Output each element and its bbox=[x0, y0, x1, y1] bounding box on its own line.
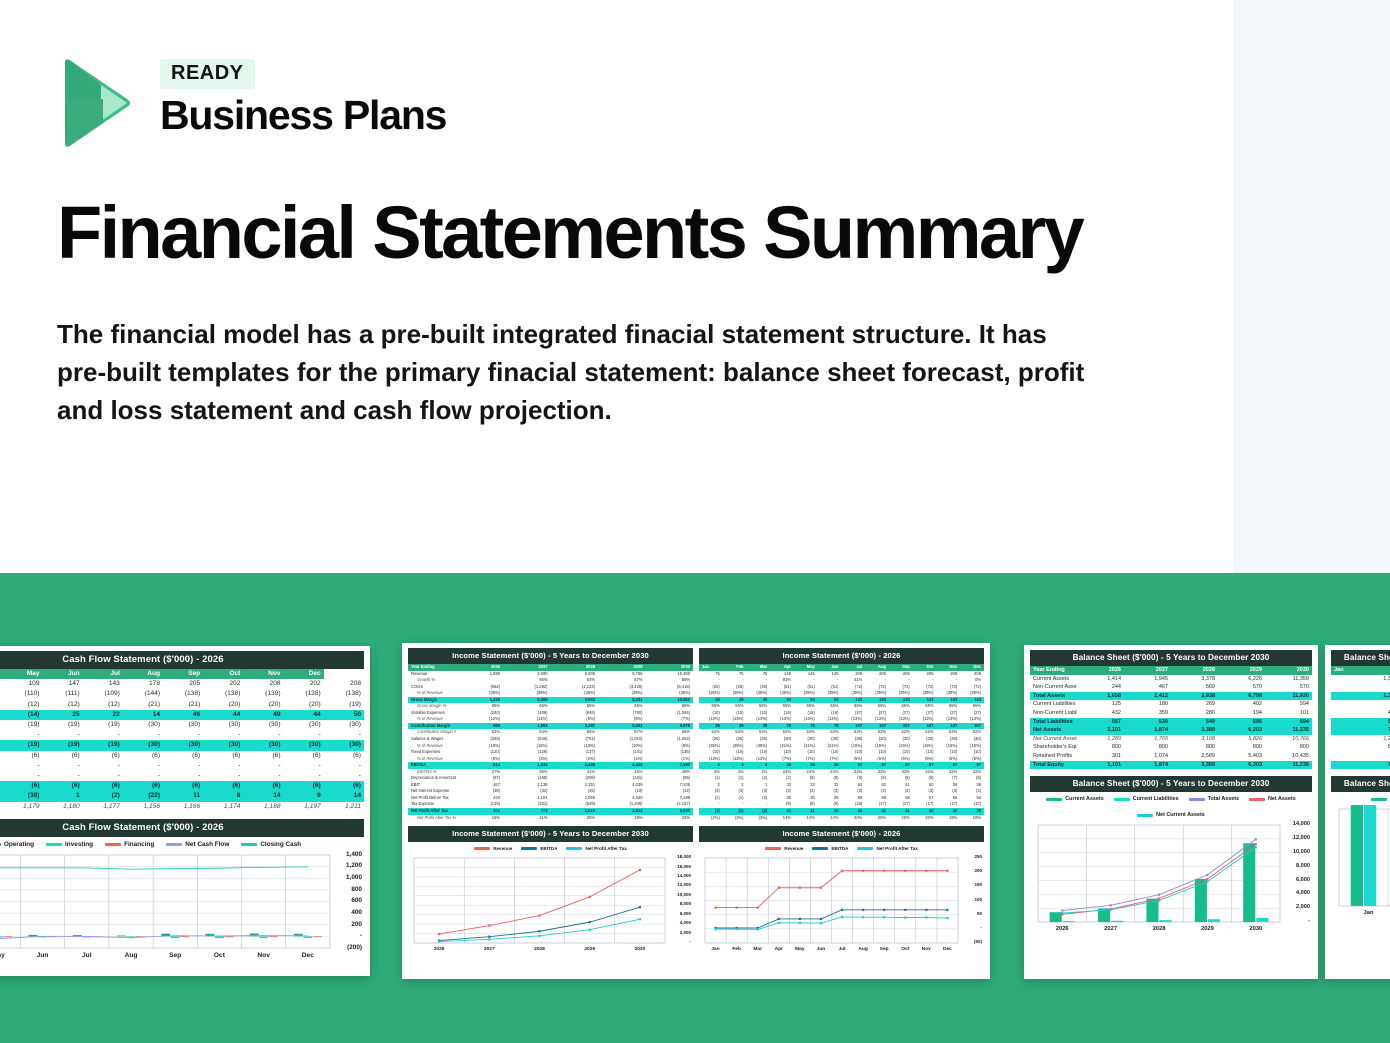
table-cell: (6) bbox=[284, 751, 324, 761]
x-tick: Nov bbox=[242, 952, 286, 959]
table-cell: 1,101 bbox=[1077, 761, 1124, 770]
y-tick: - bbox=[360, 932, 362, 939]
ready-badge: READY bbox=[160, 59, 255, 89]
balance-2026-table-block: Balance Sheet ($'000) - 2026 JanFeb 1,34… bbox=[1331, 650, 1390, 769]
y-tick: - bbox=[690, 939, 692, 944]
row-label: Total Liabilities bbox=[1030, 718, 1077, 727]
table-cell: 20% bbox=[842, 815, 866, 822]
y-tick: 1,200 bbox=[346, 862, 362, 869]
table-cell: (19) bbox=[83, 740, 123, 750]
table-cell: 1,289 bbox=[1077, 735, 1124, 744]
table-cell: 495 bbox=[1331, 709, 1390, 718]
y-tick: 250 bbox=[974, 854, 982, 859]
cash-flow-plot[interactable]: 1,4001,2001,000800600400200-(200) bbox=[0, 851, 364, 951]
table-cell: 1,414 bbox=[1077, 675, 1124, 684]
y-tick: 600 bbox=[351, 897, 362, 904]
table-cell: (109) bbox=[83, 689, 123, 699]
table-cell: (30) bbox=[243, 720, 283, 730]
table-row[interactable]: (23)(38)1(2)(22)11814914 bbox=[0, 791, 364, 801]
table-cell: 570 bbox=[1265, 683, 1312, 692]
y-tick: 1,000 bbox=[346, 874, 362, 881]
table-cell: 20% bbox=[889, 815, 913, 822]
table-cell: (21) bbox=[163, 700, 203, 710]
y-tick: 6,000 bbox=[1296, 877, 1310, 883]
y-tick: 2,000 bbox=[680, 930, 691, 935]
table-row[interactable]: 1(14)2522144644494450 bbox=[0, 710, 364, 720]
income-2026-x-axis: JanFebMarAprMayJunJulAugSepOctNovDec bbox=[699, 946, 984, 952]
y-tick: (200) bbox=[347, 944, 362, 951]
table-cell: (110) bbox=[2, 689, 42, 699]
table-body: 79109147143178205202208202208(75)(110)(1… bbox=[0, 679, 364, 812]
table-cell: (12) bbox=[43, 700, 83, 710]
table-row[interactable]: (3)(12)(12)(12)(21)(21)(20)(20)(20)(19) bbox=[0, 700, 364, 710]
x-tick: 2028 bbox=[514, 947, 564, 952]
legend-label: Financing bbox=[124, 841, 154, 848]
table-cell: 799 bbox=[1331, 761, 1390, 770]
legend-label: Current Assets bbox=[1065, 796, 1103, 802]
x-tick: Sep bbox=[874, 947, 895, 952]
balance-5y-table[interactable]: Year Ending20262027202820292030 Current … bbox=[1030, 666, 1312, 769]
y-tick: 100 bbox=[974, 897, 982, 902]
table-cell: 1,188 bbox=[243, 802, 283, 812]
table-cell: (22) bbox=[123, 791, 163, 801]
income-5y-legend: RevenueEBITDANet Profit After Tax bbox=[408, 842, 693, 854]
y-tick: 14,000 bbox=[1293, 821, 1310, 827]
income-5y-chart-title: Income Statement ($'000) - 5 Years to De… bbox=[408, 826, 693, 842]
row-label: Current Liabilities bbox=[1030, 700, 1077, 709]
table-row[interactable]: Current Liabilities125180269402594 bbox=[1030, 700, 1312, 709]
income-5y-plot[interactable]: 18,00016,00014,00012,00010,0008,0006,000… bbox=[408, 854, 693, 946]
x-tick: 2026 bbox=[1038, 926, 1086, 932]
table-cell: 125 bbox=[1077, 700, 1124, 709]
row-label: Total Equity bbox=[1030, 761, 1077, 770]
income-2026-table[interactable]: JanFebMarAprMayJunJulAugSepOctNovDec 757… bbox=[699, 664, 984, 821]
y-tick: (50) bbox=[974, 939, 982, 944]
cash-flow-chart-title: Cash Flow Statement ($'000) - 2026 bbox=[0, 819, 364, 837]
table-cell: 1,074 bbox=[1124, 752, 1171, 761]
table-cell: 11,359 bbox=[1265, 675, 1312, 684]
legend-item: Investing bbox=[46, 841, 93, 848]
row-label: Total Assets bbox=[1030, 692, 1077, 701]
legend-label: EBITDA bbox=[831, 846, 848, 851]
table-cell: - bbox=[43, 771, 83, 781]
table-row[interactable]: 1,2751,251 bbox=[1331, 735, 1390, 744]
balance-sheet-2026-screenshot-card[interactable]: Balance Sheet ($'000) - 2026 JanFeb 1,34… bbox=[1325, 645, 1390, 979]
legend-item: Current Assets bbox=[1371, 796, 1390, 802]
table-cell: 1,177 bbox=[83, 802, 123, 812]
balance-2026-table[interactable]: JanFeb 1,3411,32318361,3591,359657249548… bbox=[1331, 666, 1390, 769]
x-tick: Jun bbox=[810, 947, 831, 952]
table-cell: 799 bbox=[1331, 726, 1390, 735]
column-header[interactable]: Dec bbox=[284, 669, 324, 679]
income-5y-column: Income Statement ($'000) - 5 Years to De… bbox=[408, 648, 693, 821]
column-header[interactable]: Aug bbox=[123, 669, 163, 679]
table-cell: 10,766 bbox=[1265, 735, 1312, 744]
y-tick: 12,000 bbox=[677, 882, 691, 887]
table-cell: - bbox=[123, 771, 163, 781]
legend-swatch bbox=[46, 843, 62, 846]
table-cell: (19) bbox=[2, 740, 42, 750]
table-row[interactable]: (19)(19)(19)(19)(30)(30)(30)(30)(30)(30) bbox=[0, 720, 364, 730]
table-cell: (6) bbox=[83, 751, 123, 761]
legend-item: Net Cash Flow bbox=[166, 841, 229, 848]
table-row[interactable]: (6)(6)(6)(6)(6)(6)(6)(6)(6)(6) bbox=[0, 751, 364, 761]
table-cell: 1,658 bbox=[1077, 692, 1124, 701]
table-row[interactable]: Net Assets1,1011,8743,3896,20311,235 bbox=[1030, 726, 1312, 735]
cash-flow-screenshot-card[interactable]: Cash Flow Statement ($'000) - 2026 AprMa… bbox=[0, 646, 370, 976]
legend-item: EBITDA bbox=[812, 846, 848, 851]
table-cell: 202 bbox=[203, 679, 243, 689]
table-cell: 101 bbox=[1265, 709, 1312, 718]
income-2026-legend: RevenueEBITDANet Profit After Tax bbox=[699, 842, 984, 854]
table-cell: 25 bbox=[43, 710, 83, 720]
table-cell: 1,275 bbox=[1331, 735, 1390, 744]
table-cell: (144) bbox=[123, 689, 163, 699]
cash-flow-table-title: Cash Flow Statement ($'000) - 2026 bbox=[0, 651, 364, 669]
table-cell: 147 bbox=[43, 679, 83, 689]
table-cell: 14 bbox=[123, 710, 163, 720]
legend-item: Current Liabilities bbox=[1114, 796, 1179, 802]
table-cell: 2,589 bbox=[1171, 752, 1218, 761]
column-header[interactable]: Year Ending bbox=[1030, 666, 1077, 675]
legend-item: Financing bbox=[105, 841, 154, 848]
legend-swatch bbox=[105, 843, 121, 846]
table-row[interactable]: 799798 bbox=[1331, 761, 1390, 770]
table-row[interactable]: 800800 bbox=[1331, 743, 1390, 752]
table-row[interactable]: 6572 bbox=[1331, 700, 1390, 709]
table-cell: (138) bbox=[203, 689, 243, 699]
column-header[interactable]: 2029 bbox=[1218, 666, 1265, 675]
table-row[interactable]: 1,3591,359 bbox=[1331, 692, 1390, 701]
legend-swatch bbox=[1137, 814, 1153, 817]
table-cell: 1,174 bbox=[203, 802, 243, 812]
y-tick: 400 bbox=[351, 909, 362, 916]
table-cell: 1,874 bbox=[1124, 726, 1171, 735]
table-row[interactable]: ---------- bbox=[0, 771, 364, 781]
table-cell: - bbox=[83, 730, 123, 740]
legend-item: Revenue bbox=[765, 846, 803, 851]
table-cell: 202 bbox=[284, 679, 324, 689]
table-cell: (2%) bbox=[723, 815, 747, 822]
x-tick: 2027 bbox=[1086, 926, 1134, 932]
table-cell: (6) bbox=[163, 751, 203, 761]
income-5y-table-title: Income Statement ($'000) - 5 Years to De… bbox=[408, 648, 693, 664]
row-label: Net Interest Expense bbox=[408, 788, 456, 795]
table-row[interactable]: ---------- bbox=[0, 761, 364, 771]
table-cell: 109 bbox=[2, 679, 42, 689]
cash-flow-table[interactable]: AprMayJunJulAugSepOctNovDec 791091471431… bbox=[0, 669, 364, 812]
legend-swatch bbox=[0, 843, 1, 846]
table-cell: 14% bbox=[794, 815, 818, 822]
legend-label: Closing Cash bbox=[260, 841, 301, 848]
table-row[interactable]: Net Profit After Tax %16%21%25%29%33% bbox=[408, 815, 693, 822]
balance-sheet-screenshot-card[interactable]: Balance Sheet ($'000) - 5 Years to Decem… bbox=[1024, 645, 1318, 979]
x-tick: Apr bbox=[768, 947, 789, 952]
table-cell: 194 bbox=[1218, 709, 1265, 718]
table-cell: 19% bbox=[937, 815, 961, 822]
legend-swatch bbox=[474, 847, 490, 850]
table-row[interactable]: 1,3411,323 bbox=[1331, 675, 1390, 684]
table-cell: (6) bbox=[83, 781, 123, 791]
column-header[interactable]: 2028 bbox=[1171, 666, 1218, 675]
x-tick: Sep bbox=[153, 952, 197, 959]
x-tick: Jul bbox=[65, 952, 109, 959]
table-cell: (20) bbox=[284, 700, 324, 710]
column-header[interactable]: Jan bbox=[1331, 666, 1390, 675]
legend-label: Net Cash Flow bbox=[185, 841, 229, 848]
table-cell: (19) bbox=[43, 740, 83, 750]
brand-name: Business Plans bbox=[160, 94, 446, 137]
balance-2026-table-title: Balance Sheet ($'000) - 2026 bbox=[1331, 650, 1390, 666]
table-cell: - bbox=[123, 761, 163, 771]
table-cell: (30) bbox=[243, 740, 283, 750]
hero-section: READY Business Plans Financial Statement… bbox=[0, 0, 1390, 573]
table-cell: 11,930 bbox=[1265, 692, 1312, 701]
table-cell: (30) bbox=[203, 740, 243, 750]
legend-swatch bbox=[566, 847, 582, 850]
table-cell: (12) bbox=[83, 700, 123, 710]
cash-flow-chart-legend: OperatingInvestingFinancingNet Cash Flow… bbox=[0, 837, 364, 851]
table-cell: 25% bbox=[551, 815, 599, 822]
table-cell: (30) bbox=[284, 720, 324, 730]
table-row[interactable]: Retained Profits3011,0742,5895,40310,435 bbox=[1030, 752, 1312, 761]
table-cell: 2,412 bbox=[1124, 692, 1171, 701]
table-cell: 50 bbox=[324, 710, 364, 720]
table-cell: (6) bbox=[243, 781, 283, 791]
balance-5y-plot[interactable]: 14,00012,00010,0008,0006,0004,0002,000- bbox=[1030, 821, 1312, 925]
y-tick: 4,000 bbox=[1296, 890, 1310, 896]
table-cell: 432 bbox=[1077, 709, 1124, 718]
legend-swatch bbox=[241, 843, 257, 846]
y-tick: 16,000 bbox=[677, 864, 691, 869]
x-tick: Mar bbox=[747, 947, 768, 952]
table-row[interactable]: 79109147143178205202208202208 bbox=[0, 679, 364, 689]
table-cell: - bbox=[284, 730, 324, 740]
row-label: Net Profit After Tax % bbox=[408, 815, 456, 822]
row-label: Net Assets bbox=[1030, 726, 1077, 735]
legend-item: Net Current Assets bbox=[1137, 812, 1205, 818]
x-tick: 2029 bbox=[565, 947, 615, 952]
x-tick: Jan bbox=[705, 947, 726, 952]
legend-label: Investing bbox=[65, 841, 93, 848]
table-row[interactable]: (2%)(2%)(3%)14%14%14%20%20%20%20%19%19% bbox=[699, 815, 984, 822]
table-cell: 16% bbox=[456, 815, 504, 822]
y-tick: 18,000 bbox=[677, 854, 691, 859]
legend-swatch bbox=[1249, 798, 1265, 801]
table-row[interactable]: 495489 bbox=[1331, 709, 1390, 718]
table-cell: 6,798 bbox=[1218, 692, 1265, 701]
x-tick: 2026 bbox=[414, 947, 464, 952]
table-row[interactable]: Non-Current Liabilities432359280194101 bbox=[1030, 709, 1312, 718]
table-cell: 1,156 bbox=[123, 802, 163, 812]
table-cell: 3,389 bbox=[1171, 726, 1218, 735]
legend-label: Current Liabilities bbox=[1133, 796, 1179, 802]
column-header[interactable]: 2030 bbox=[1265, 666, 1312, 675]
row-label: Depreciation & Amortization bbox=[408, 775, 456, 782]
income-2026-plot[interactable]: 25020015010050-(50) bbox=[699, 854, 984, 946]
table-cell: 570 bbox=[1218, 683, 1265, 692]
table-cell: (6) bbox=[43, 751, 83, 761]
table-cell: - bbox=[163, 761, 203, 771]
table-cell: (6) bbox=[324, 751, 364, 761]
table-row[interactable]: (75)(110)(111)(109)(144)(138)(138)(139)(… bbox=[0, 689, 364, 699]
table-cell: - bbox=[243, 730, 283, 740]
table-cell: (14) bbox=[2, 710, 42, 720]
x-tick: Jan bbox=[1337, 910, 1390, 916]
x-tick: Aug bbox=[109, 952, 153, 959]
table-cell: 18 bbox=[1331, 683, 1390, 692]
table-cell: - bbox=[123, 730, 163, 740]
table-cell: 143 bbox=[83, 679, 123, 689]
y-tick: 200 bbox=[351, 921, 362, 928]
right-tint-panel bbox=[1233, 0, 1390, 573]
y-tick: 4,000 bbox=[680, 920, 691, 925]
legend-item: Operating bbox=[0, 841, 34, 848]
column-header[interactable]: Jun bbox=[43, 669, 83, 679]
table-cell: 1,765 bbox=[1124, 735, 1171, 744]
x-tick: May bbox=[0, 952, 20, 959]
table-row[interactable]: 799798 bbox=[1331, 726, 1390, 735]
table-cell: 6,203 bbox=[1218, 761, 1265, 770]
balance-5y-legend: Current AssetsCurrent LiabilitiesTotal A… bbox=[1030, 792, 1312, 821]
legend-item: Net Profit After Tax bbox=[566, 846, 626, 851]
table-cell: (19) bbox=[43, 720, 83, 730]
column-header[interactable]: Jul bbox=[83, 669, 123, 679]
table-cell: 800 bbox=[1265, 743, 1312, 752]
table-cell: 694 bbox=[1265, 718, 1312, 727]
table-cell: 3,108 bbox=[1171, 735, 1218, 744]
table-cell: - bbox=[324, 730, 364, 740]
column-header[interactable]: Oct bbox=[203, 669, 243, 679]
x-tick: Dec bbox=[937, 947, 958, 952]
column-header[interactable]: Sep bbox=[163, 669, 203, 679]
table-cell: 10,435 bbox=[1265, 752, 1312, 761]
table-cell: 20% bbox=[865, 815, 889, 822]
y-tick: 200 bbox=[974, 868, 982, 873]
table-cell: (6) bbox=[284, 781, 324, 791]
table-row[interactable]: Total Assets1,6582,4123,9386,79811,930 bbox=[1030, 692, 1312, 701]
legend-label: Net Profit After Tax bbox=[585, 846, 626, 851]
table-row[interactable]: Net Current Assets1,2891,7653,1085,82610… bbox=[1030, 735, 1312, 744]
table-cell: 14 bbox=[243, 791, 283, 801]
table-cell: (6) bbox=[324, 781, 364, 791]
column-header[interactable]: Nov bbox=[243, 669, 283, 679]
table-cell: (12) bbox=[2, 700, 42, 710]
row-label: Non-Current Liabilities bbox=[1030, 709, 1077, 718]
table-row[interactable]: Shareholder's Equity800800800800800 bbox=[1030, 743, 1312, 752]
y-tick: - bbox=[1308, 918, 1310, 924]
table-cell: 49 bbox=[243, 710, 283, 720]
table-cell: (21) bbox=[123, 700, 163, 710]
table-cell: (6) bbox=[123, 781, 163, 791]
row-label: Retained Profits bbox=[1030, 752, 1077, 761]
table-row[interactable]: 1836 bbox=[1331, 683, 1390, 692]
table-row[interactable]: 560561 bbox=[1331, 718, 1390, 727]
table-row[interactable]: Total Liabilities557539549595694 bbox=[1030, 718, 1312, 727]
legend-label: Net Assets bbox=[1268, 796, 1296, 802]
row-label: Current Assets bbox=[1030, 675, 1077, 684]
table-cell: (30) bbox=[324, 720, 364, 730]
row-label: Non-Current Assets bbox=[1030, 683, 1077, 692]
table-row[interactable]: ---------- bbox=[0, 730, 364, 740]
legend-label: Total Assets bbox=[1208, 796, 1239, 802]
income-2026-table-title: Income Statement ($'000) - 2026 bbox=[699, 648, 984, 664]
table-cell: 22 bbox=[83, 710, 123, 720]
table-cell: 1,166 bbox=[163, 802, 203, 812]
brand-logo[interactable]: READY Business Plans bbox=[57, 57, 437, 149]
table-cell: 269 bbox=[1171, 700, 1218, 709]
table-cell: 244 bbox=[1077, 683, 1124, 692]
play-triangle-logo-icon bbox=[57, 57, 139, 149]
row-label: Shareholder's Equity bbox=[1030, 743, 1077, 752]
table-cell: (138) bbox=[284, 689, 324, 699]
table-cell: (6) bbox=[203, 751, 243, 761]
table-row[interactable]: (1)(2) bbox=[1331, 752, 1390, 761]
table-cell: 20% bbox=[913, 815, 937, 822]
legend-label: Revenue bbox=[493, 846, 512, 851]
table-body: 1,3411,32318361,3591,3596572495489560561… bbox=[1331, 675, 1390, 770]
table-row[interactable]: (19)(19)(19)(19)(30)(30)(30)(30)(30)(30) bbox=[0, 740, 364, 750]
table-row[interactable]: Non-Current Assets244467560570570 bbox=[1030, 683, 1312, 692]
table-cell: 800 bbox=[1218, 743, 1265, 752]
y-tick: 6,000 bbox=[680, 911, 691, 916]
table-cell: (138) bbox=[324, 689, 364, 699]
cash-flow-table-block: Cash Flow Statement ($'000) - 2026 AprMa… bbox=[0, 651, 364, 812]
column-header[interactable]: May bbox=[2, 669, 42, 679]
table-row[interactable]: 1,2171,1791,1801,1771,1561,1661,1741,188… bbox=[0, 802, 364, 812]
table-row[interactable]: Total Equity1,1011,8743,3896,20311,235 bbox=[1030, 761, 1312, 770]
table-cell: 539 bbox=[1124, 718, 1171, 727]
x-tick: Oct bbox=[197, 952, 241, 959]
x-tick: 2030 bbox=[615, 947, 665, 952]
table-cell: (6) bbox=[43, 781, 83, 791]
y-tick: 50 bbox=[977, 911, 982, 916]
table-row[interactable]: Current Assets1,4141,9453,3786,22611,359 bbox=[1030, 675, 1312, 684]
table-cell: 560 bbox=[1171, 683, 1218, 692]
table-cell: (30) bbox=[203, 720, 243, 730]
legend-item: Revenue bbox=[474, 846, 512, 851]
row-label: Net Current Assets bbox=[1030, 735, 1077, 744]
table-cell: 800 bbox=[1171, 743, 1218, 752]
table-row[interactable]: (6)(6)(6)(6)(6)(6)(6)(6)(6)(6) bbox=[0, 781, 364, 791]
chart-svg bbox=[699, 854, 984, 946]
column-header[interactable]: 2026 bbox=[1077, 666, 1124, 675]
y-tick: 8,000 bbox=[1296, 863, 1310, 869]
legend-swatch bbox=[765, 847, 781, 850]
income-5y-table[interactable]: Year Ending20262027202820292030 Revenue1… bbox=[408, 664, 693, 821]
table-cell: 44 bbox=[203, 710, 243, 720]
table-cell: - bbox=[324, 761, 364, 771]
table-cell: 1,211 bbox=[324, 802, 364, 812]
balance-5y-chart-block: Balance Sheet ($'000) - 5 Years to Decem… bbox=[1030, 776, 1312, 932]
table-cell: - bbox=[163, 730, 203, 740]
table-cell: (2%) bbox=[699, 815, 723, 822]
table-cell: - bbox=[2, 730, 42, 740]
brand-wordmark: READY Business Plans bbox=[160, 59, 446, 137]
chart-svg bbox=[408, 854, 693, 946]
legend-item: Closing Cash bbox=[241, 841, 301, 848]
table-header-row: JanFeb bbox=[1331, 666, 1390, 675]
x-tick: Nov bbox=[916, 947, 937, 952]
balance-2026-plot[interactable] bbox=[1331, 805, 1390, 909]
legend-swatch bbox=[166, 843, 182, 846]
table-cell: 33% bbox=[646, 815, 694, 822]
column-header[interactable]: 2027 bbox=[1124, 666, 1171, 675]
income-2026-chart-block: Income Statement ($'000) - 2026 RevenueE… bbox=[699, 826, 984, 952]
x-tick: 2027 bbox=[464, 947, 514, 952]
income-statement-screenshot-card[interactable]: Income Statement ($'000) - 5 Years to De… bbox=[402, 643, 990, 979]
table-cell: 595 bbox=[1218, 718, 1265, 727]
